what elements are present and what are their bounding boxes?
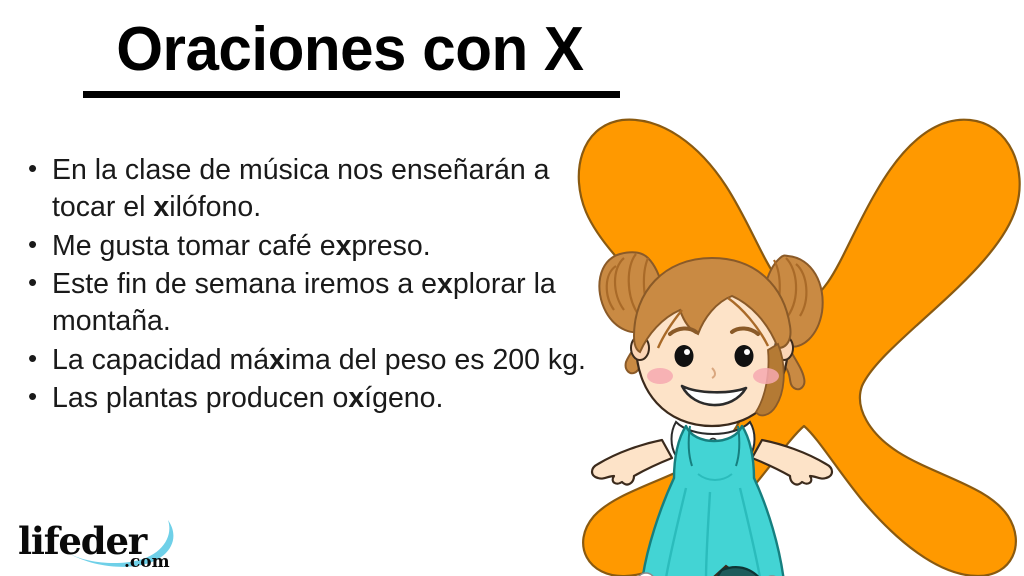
sentence-text-run: En la clase de música nos enseñarán a to… — [52, 154, 549, 223]
cheek-left — [647, 368, 673, 384]
cheek-right — [753, 368, 779, 384]
sentence-text-run: ima del peso es 200 kg. — [285, 344, 586, 376]
sentence-text-run: preso. — [351, 230, 430, 262]
lifeder-logo[interactable]: lifeder .com — [18, 518, 193, 570]
highlighted-letter-x: x — [336, 230, 352, 262]
eye-right — [735, 345, 754, 367]
sentence-text-run: ilófono. — [169, 191, 261, 223]
sentence-text-run: ígeno. — [364, 382, 443, 414]
sentence-text-run: La capacidad má — [52, 344, 269, 376]
arm-right — [752, 440, 832, 484]
sentence-list: En la clase de música nos enseñarán a to… — [22, 152, 602, 418]
sentence-expreso: Me gusta tomar café expreso. — [22, 228, 602, 265]
slide-canvas: Oraciones con X En la clase de música no… — [0, 0, 1024, 576]
sentence-maxima: La capacidad máxima del peso es 200 kg. — [22, 342, 602, 379]
page-title: Oraciones con X — [0, 18, 700, 88]
sentence-oxigeno: Las plantas producen oxígeno. — [22, 380, 602, 417]
sentence-text-run: Las plantas producen o — [52, 382, 348, 414]
page-title-text: Oraciones con X — [112, 18, 587, 88]
highlighted-letter-x: x — [153, 191, 169, 223]
arm-left — [592, 440, 672, 484]
highlighted-letter-x: x — [269, 344, 285, 376]
eye-left — [675, 345, 694, 367]
sentence-explorar: Este fin de semana iremos a explorar la … — [22, 266, 602, 341]
letter-x-illustration — [560, 96, 1024, 576]
highlighted-letter-x: x — [437, 268, 453, 300]
title-underline — [83, 91, 620, 98]
sentence-xilofono: En la clase de música nos enseñarán a to… — [22, 152, 602, 227]
logo-tld: .com — [124, 552, 170, 570]
sentence-text-run: Este fin de semana iremos a e — [52, 268, 437, 300]
highlighted-letter-x: x — [348, 382, 364, 414]
sentence-text-run: Me gusta tomar café e — [52, 230, 336, 262]
